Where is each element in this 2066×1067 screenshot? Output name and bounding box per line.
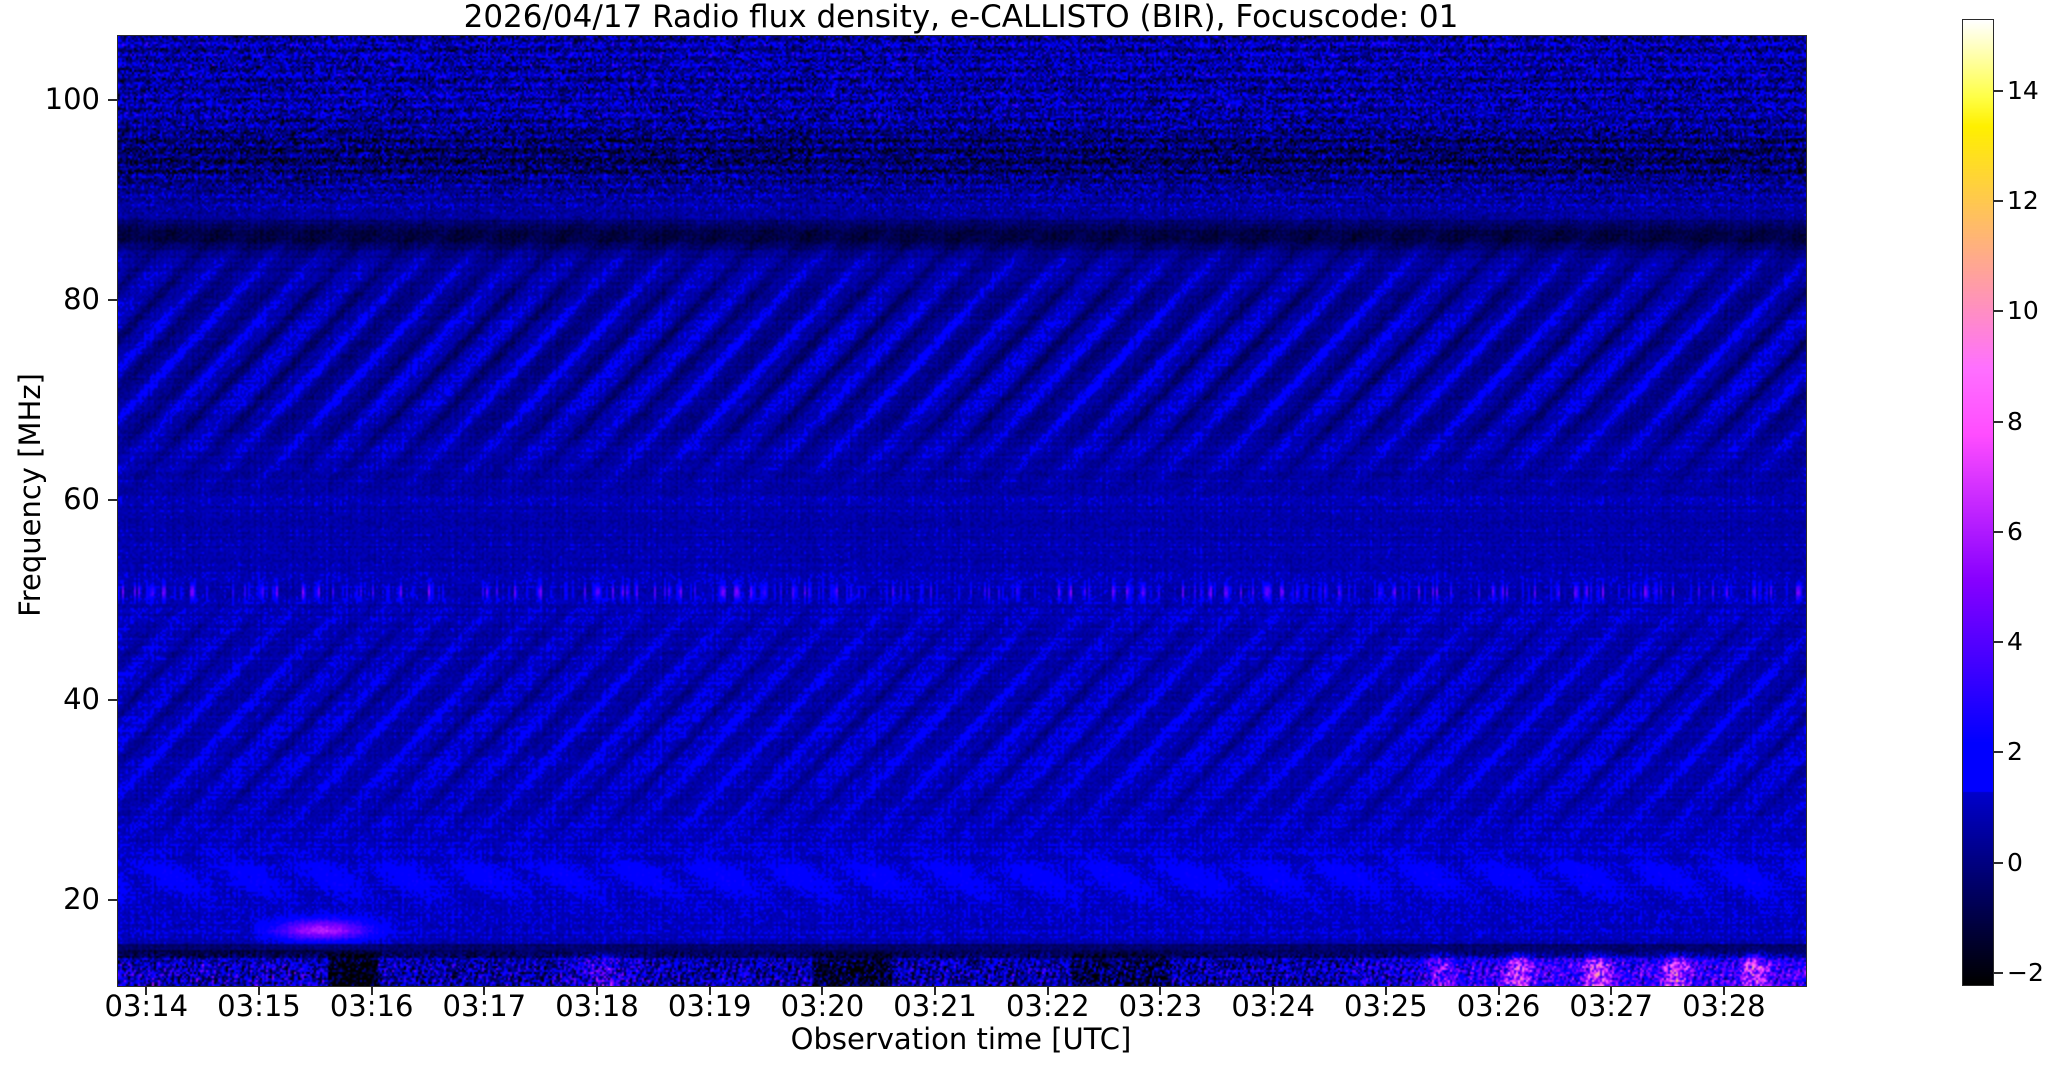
colorbar-tick-mark [1994,751,2003,753]
colorbar[interactable] [1962,19,1994,986]
y-tick-label: 100 [20,85,100,114]
colorbar-tick-mark [1994,310,2003,312]
colorbar-tick-mark [1994,531,2003,533]
colorbar-tick-label: 14 [2007,78,2039,103]
colorbar-tick-label: 10 [2007,298,2039,323]
spectrogram-image [118,36,1806,986]
y-tick-label: 80 [20,285,100,314]
page-title: 2026/04/17 Radio flux density, e-CALLIST… [117,0,1805,35]
colorbar-tick-mark [1994,641,2003,643]
y-tick-label: 20 [20,885,100,914]
colorbar-tick-mark [1994,972,2003,974]
y-tick-label: 60 [20,485,100,514]
colorbar-tick-label: 8 [2007,409,2023,434]
x-axis-title: Observation time [UTC] [117,1022,1805,1056]
y-tick-mark [108,899,117,901]
figure-canvas: 2026/04/17 Radio flux density, e-CALLIST… [0,0,2066,1067]
colorbar-tick-mark [1994,90,2003,92]
x-tick-label: 03:28 [1644,992,1804,1021]
colorbar-tick-label: 12 [2007,188,2039,213]
colorbar-tick-label: 0 [2007,850,2023,875]
spectrogram-plot-area[interactable] [117,35,1807,987]
colorbar-tick-label: 2 [2007,739,2023,764]
y-tick-mark [108,699,117,701]
colorbar-tick-mark [1994,421,2003,423]
colorbar-tick-label: 6 [2007,519,2023,544]
colorbar-tick-mark [1994,862,2003,864]
colorbar-image [1963,20,1993,985]
colorbar-tick-label: 4 [2007,629,2023,654]
colorbar-tick-mark [1994,200,2003,202]
colorbar-tick-label: −2 [2007,960,2044,985]
y-tick-mark [108,499,117,501]
y-tick-mark [108,299,117,301]
y-tick-mark [108,99,117,101]
y-tick-label: 40 [20,685,100,714]
colorbar-gradient [1962,19,1994,986]
